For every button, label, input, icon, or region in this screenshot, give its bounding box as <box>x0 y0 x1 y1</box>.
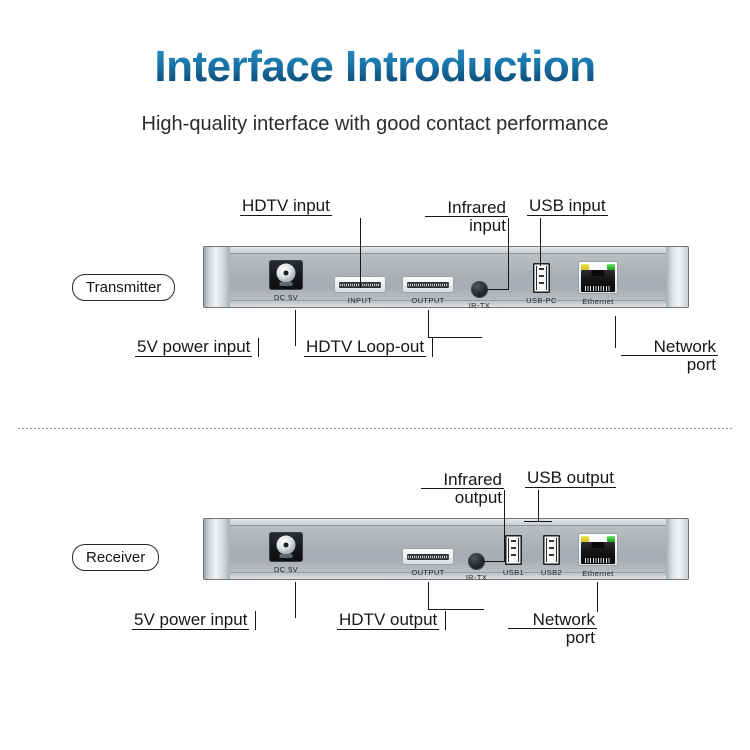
leader-loop-out-horz <box>428 337 482 338</box>
callout-hdtv-loop-out-label: HDTV Loop-out <box>304 338 426 357</box>
dc-jack-pin <box>284 270 289 275</box>
ethernet-pins <box>585 286 611 291</box>
dc-jack-slot <box>280 282 293 286</box>
transmitter-left-bevel <box>204 247 230 307</box>
ethernet-frame <box>578 533 618 566</box>
leader-network-port-rx <box>597 582 598 612</box>
hdmi-output-body <box>402 548 454 565</box>
leader-power-input-tx <box>295 310 296 346</box>
callout-hdtv-output-label: HDTV output <box>337 611 439 630</box>
hdmi-output-mouth <box>407 554 449 560</box>
transmitter-top-seam <box>230 253 666 254</box>
dc-jack-body <box>269 260 303 290</box>
port-label-ir: IR-TX <box>466 573 488 582</box>
ethernet-led-green <box>607 536 615 542</box>
ethernet-pins <box>585 558 611 563</box>
port-label-ethernet: Ethernet <box>582 569 614 578</box>
port-label-usb2: USB2 <box>541 568 562 577</box>
callout-network-port-tx: Network port <box>615 338 718 373</box>
receiver-usb1-port: USB1 <box>505 535 522 565</box>
callout-usb-input: USB input <box>527 197 608 216</box>
receiver-hdmi-output: OUTPUT <box>402 548 454 565</box>
callout-usb-output: USB output <box>525 469 616 488</box>
port-label-dc: DC 5V <box>274 565 298 574</box>
ethernet-notch <box>592 270 605 276</box>
port-label-output: OUTPUT <box>411 568 444 577</box>
port-label-input: INPUT <box>348 296 373 305</box>
callout-infrared-input-line2: input <box>425 217 508 234</box>
callout-network-port-rx: Network port <box>508 611 603 646</box>
receiver-ethernet-port: Ethernet <box>578 533 618 566</box>
dc-jack-body <box>269 532 303 562</box>
receiver-usb2-port: USB2 <box>543 535 560 565</box>
leader-usb-input <box>540 218 541 266</box>
port-label-ethernet: Ethernet <box>582 297 614 306</box>
callout-hdtv-loop-out: HDTV Loop-out <box>304 338 433 357</box>
leader-hdtv-input <box>360 218 361 288</box>
usb2-body <box>543 535 560 565</box>
page-title: Interface Introduction <box>0 44 750 90</box>
hdmi-output-body <box>402 276 454 293</box>
transmitter-hdmi-output: OUTPUT <box>402 276 454 293</box>
port-label-ir: IR-TX <box>469 301 491 310</box>
ethernet-frame <box>578 261 618 294</box>
port-label-dc: DC 5V <box>274 293 298 302</box>
callout-infrared-input-line1: Infrared <box>425 199 508 217</box>
leader-infrared-output-vert <box>504 490 505 562</box>
receiver-role-badge: Receiver <box>72 544 159 571</box>
callout-infrared-input: Infrared input <box>425 199 508 234</box>
callout-network-port-tx-line2: port <box>621 356 718 373</box>
transmitter-ethernet-port: Ethernet <box>578 261 618 294</box>
callout-power-input-rx-label: 5V power input <box>132 611 249 630</box>
leader-loop-out-vert <box>428 310 429 338</box>
transmitter-dc-jack: DC 5V <box>269 260 303 290</box>
leader-infrared-input-horz <box>486 289 509 290</box>
usb1-body <box>505 535 522 565</box>
callout-power-input-tx: 5V power input <box>135 338 259 357</box>
ethernet-notch <box>592 542 605 548</box>
leader-power-input-rx <box>295 582 296 618</box>
leader-usb-output-horz <box>524 521 552 522</box>
leader-infrared-output-horz <box>483 561 505 562</box>
callout-infrared-output-line2: output <box>421 489 504 506</box>
dc-jack-pin <box>284 542 289 547</box>
callout-power-input-tx-label: 5V power input <box>135 338 252 357</box>
dc-jack-slot <box>280 554 293 558</box>
callout-infrared-output: Infrared output <box>421 471 504 506</box>
ethernet-led-yellow <box>581 264 589 270</box>
callout-usb-output-label: USB output <box>525 469 616 488</box>
hdmi-output-mouth <box>407 282 449 288</box>
port-label-output: OUTPUT <box>411 296 444 305</box>
receiver-dc-jack: DC 5V <box>269 532 303 562</box>
callout-hdtv-output: HDTV output <box>337 611 446 630</box>
section-divider <box>18 428 732 429</box>
transmitter-right-bevel <box>666 247 688 307</box>
callout-power-input-rx: 5V power input <box>132 611 256 630</box>
receiver-top-seam <box>230 525 666 526</box>
leader-hdtv-output-vert <box>428 582 429 610</box>
receiver-right-bevel <box>666 519 688 579</box>
ethernet-led-yellow <box>581 536 589 542</box>
callout-hdtv-input-label: HDTV input <box>240 197 332 216</box>
callout-hdtv-input: HDTV input <box>240 197 332 216</box>
port-label-usb-pc: USB-PC <box>526 296 557 305</box>
transmitter-role-badge: Transmitter <box>72 274 175 301</box>
callout-network-port-rx-line1: Network <box>508 611 597 629</box>
callout-infrared-output-line1: Infrared <box>421 471 504 489</box>
ethernet-led-green <box>607 264 615 270</box>
leader-infrared-input-vert <box>508 218 509 290</box>
callout-network-port-rx-line2: port <box>508 629 597 646</box>
callout-usb-input-label: USB input <box>527 197 608 216</box>
transmitter-usb-port: USB-PC <box>533 263 550 293</box>
usb-pc-body <box>533 263 550 293</box>
callout-network-port-tx-line1: Network <box>621 338 718 356</box>
page-subtitle: High-quality interface with good contact… <box>0 113 750 136</box>
interface-introduction-page: Interface Introduction High-quality inte… <box>0 0 750 750</box>
leader-usb-output-vert <box>538 490 539 522</box>
receiver-left-bevel <box>204 519 230 579</box>
port-label-usb1: USB1 <box>503 568 524 577</box>
